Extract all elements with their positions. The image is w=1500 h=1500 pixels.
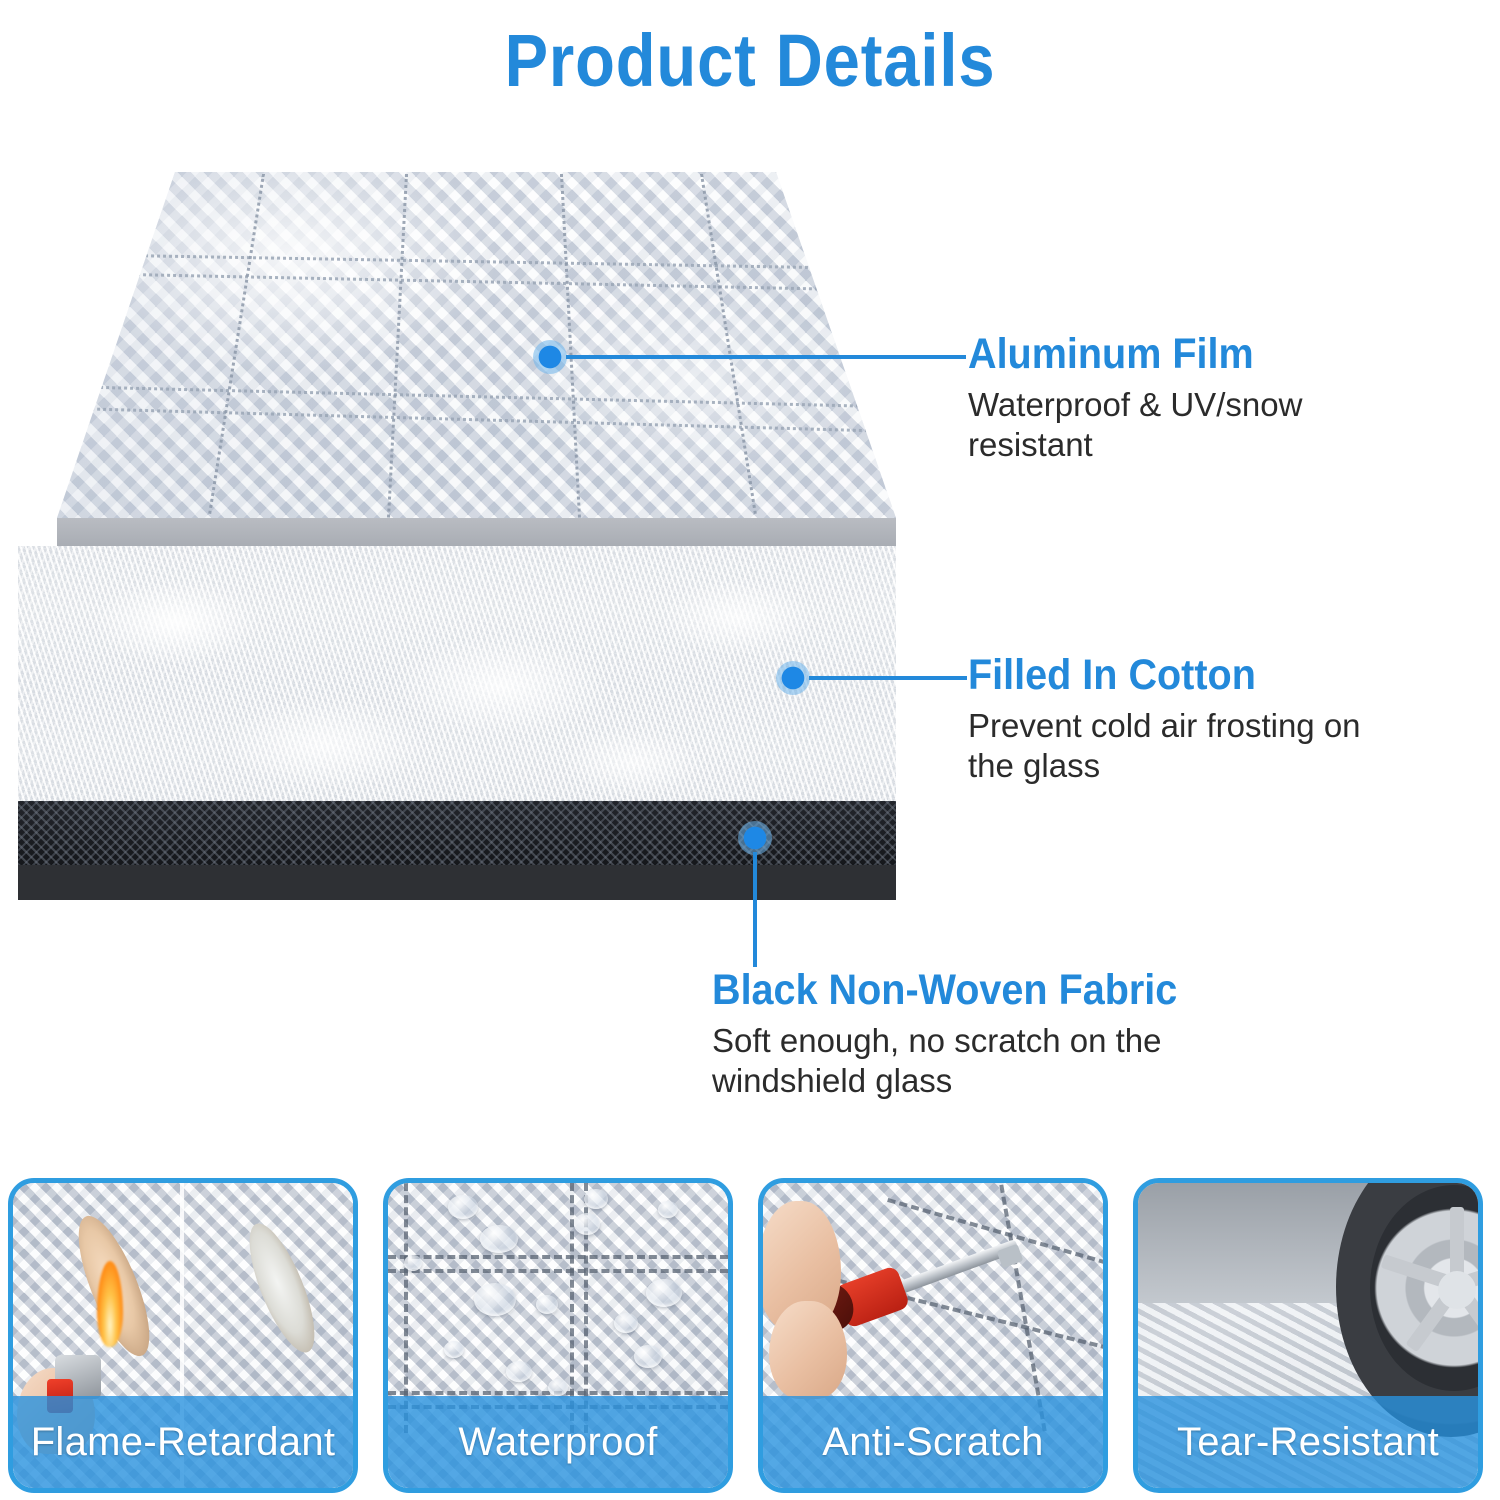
hand-finger xyxy=(769,1301,847,1399)
filled-cotton-layer xyxy=(18,546,896,801)
callout-title: Filled In Cotton xyxy=(968,653,1364,699)
water-droplet xyxy=(574,1213,600,1235)
callout-title: Black Non-Woven Fabric xyxy=(712,968,1227,1014)
feature-card-tear-resistant[interactable]: Tear-Resistant xyxy=(1133,1178,1483,1493)
stitch-dash-line xyxy=(388,1255,728,1259)
callout-marker-filled-cotton[interactable] xyxy=(776,661,810,695)
water-droplet xyxy=(658,1201,678,1218)
callout-leader-aluminum-film xyxy=(566,355,966,359)
callout-marker-black-fabric[interactable] xyxy=(738,821,772,855)
callout-description: Soft enough, no scratch on the windshiel… xyxy=(712,1021,1272,1102)
callout-filled-cotton: Filled In Cotton Prevent cold air frosti… xyxy=(968,653,1398,786)
separator-band xyxy=(57,518,896,546)
callout-leader-filled-cotton xyxy=(809,676,967,680)
film-sheen xyxy=(0,150,960,525)
stitch-dash-line xyxy=(388,1269,728,1273)
feature-card-waterproof[interactable]: Waterproof xyxy=(383,1178,733,1493)
water-droplet xyxy=(506,1361,532,1382)
water-droplet xyxy=(634,1345,662,1368)
layered-material-diagram xyxy=(0,150,960,920)
water-droplet xyxy=(474,1283,516,1316)
water-droplet xyxy=(548,1379,568,1396)
water-droplet xyxy=(614,1313,638,1333)
base-band xyxy=(18,865,896,900)
callout-marker-aluminum-film[interactable] xyxy=(533,340,567,374)
cotton-fiber-texture xyxy=(18,546,896,801)
water-droplet xyxy=(404,1255,422,1271)
feature-caption: Waterproof xyxy=(388,1396,728,1488)
callout-title: Aluminum Film xyxy=(968,332,1364,378)
callout-description: Waterproof & UV/snow resistant xyxy=(968,385,1398,466)
water-droplet xyxy=(584,1189,608,1209)
callout-description: Prevent cold air frosting on the glass xyxy=(968,706,1398,787)
callout-aluminum-film: Aluminum Film Waterproof & UV/snow resis… xyxy=(968,332,1398,465)
aluminum-film-layer xyxy=(0,150,960,525)
water-droplet xyxy=(480,1225,518,1253)
water-droplet xyxy=(646,1279,682,1307)
feature-caption: Tear-Resistant xyxy=(1138,1396,1478,1488)
wheel-hub xyxy=(1438,1271,1476,1309)
feature-caption: Flame-Retardant xyxy=(13,1396,353,1488)
feature-thumbnail-row: Flame-Retardant xyxy=(0,1178,1500,1498)
callout-black-fabric: Black Non-Woven Fabric Soft enough, no s… xyxy=(712,968,1272,1101)
water-droplet xyxy=(536,1295,558,1314)
page-title: Product Details xyxy=(90,18,1410,103)
water-droplet xyxy=(444,1341,464,1358)
water-droplet xyxy=(448,1195,478,1219)
callout-leader-black-fabric xyxy=(753,852,757,967)
product-details-infographic: Product Details Aluminum Film Waterproof… xyxy=(0,0,1500,1500)
feature-card-anti-scratch[interactable]: Anti-Scratch xyxy=(758,1178,1108,1493)
feature-card-flame-retardant[interactable]: Flame-Retardant xyxy=(8,1178,358,1493)
feature-caption: Anti-Scratch xyxy=(763,1396,1103,1488)
